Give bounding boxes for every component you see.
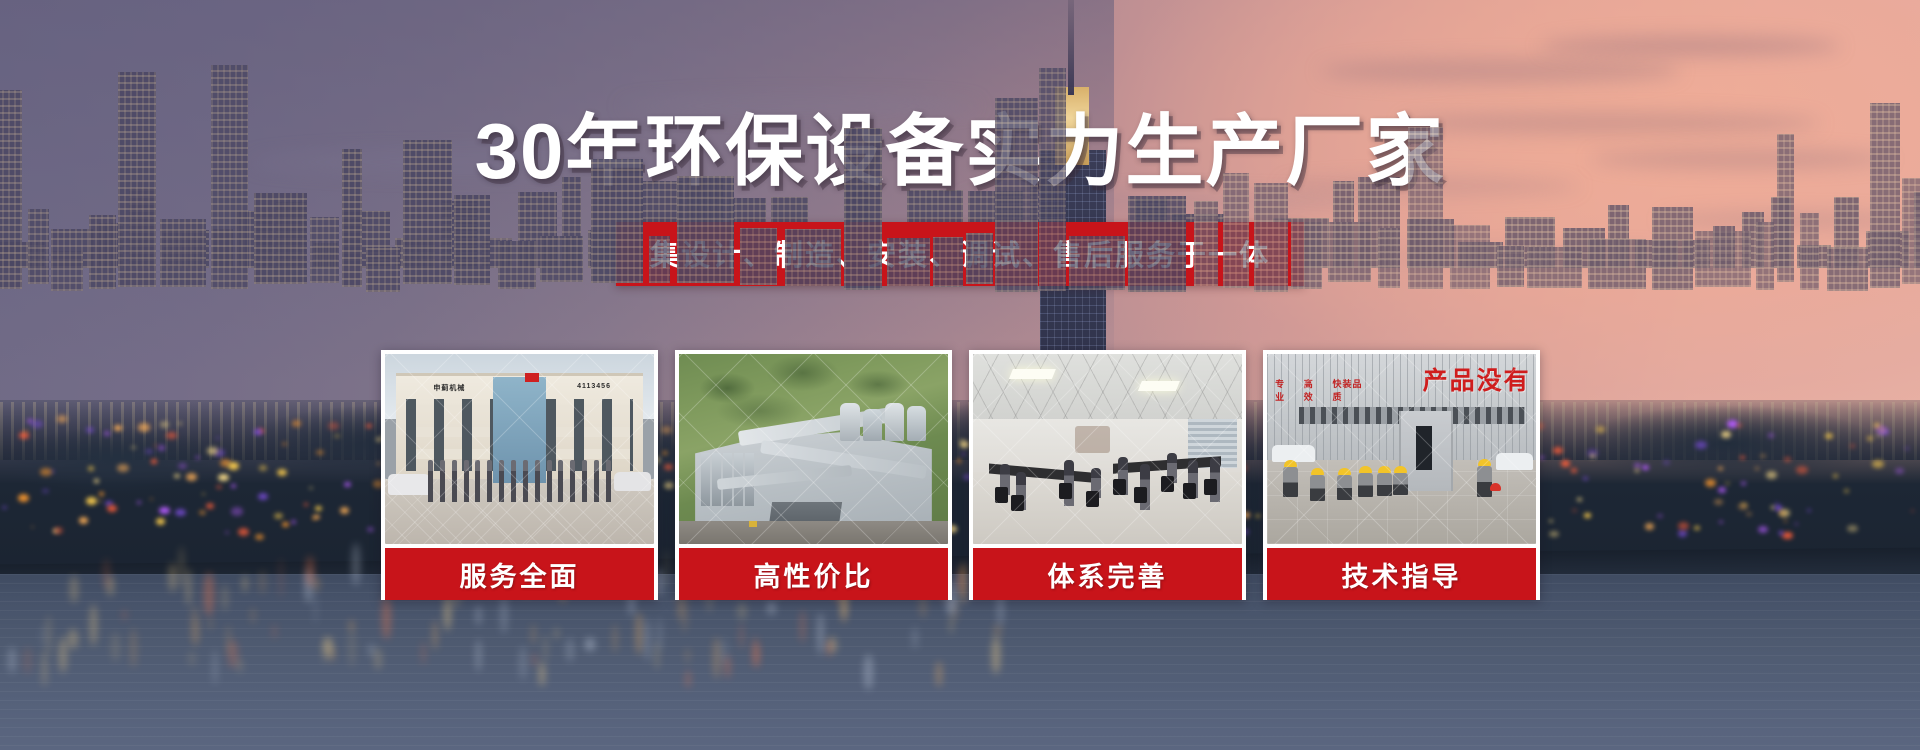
feature-card[interactable]: 产品没有 专业 高效 快装品质 技术指导 xyxy=(1263,350,1540,600)
feature-card[interactable]: 体系完善 xyxy=(969,350,1246,600)
red-helmet xyxy=(1490,483,1501,491)
page-title: 30年环保设备实力生产厂家 xyxy=(0,112,1920,190)
tower-spire xyxy=(1068,0,1074,95)
workshop-slogan-small: 专业 高效 快装品质 xyxy=(1275,377,1372,404)
card-photo-workers-workshop: 产品没有 专业 高效 快装品质 xyxy=(1267,354,1536,544)
office-chair xyxy=(1011,495,1024,511)
slogan-word: 专业 xyxy=(1275,377,1295,403)
staff-row xyxy=(428,460,611,502)
workshop-slogan-large: 产品没有 xyxy=(1407,362,1531,396)
building-phone-text: 4113456 xyxy=(577,383,611,390)
feature-card[interactable]: 申蓟机械 4113456 服务全面 xyxy=(381,350,658,600)
office-chair xyxy=(1161,476,1174,492)
worker-figure xyxy=(1393,466,1408,495)
worker-figure xyxy=(1310,468,1325,501)
office-chair xyxy=(1134,487,1147,503)
worker-figure xyxy=(1377,466,1392,496)
river-water xyxy=(0,574,1920,750)
feature-card-list: 申蓟机械 4113456 服务全面 xyxy=(381,350,1540,600)
card-photo-aerial-plant xyxy=(679,354,948,544)
worker-figure xyxy=(1283,460,1298,497)
office-chair xyxy=(1086,491,1099,507)
feature-card[interactable]: 高性价比 xyxy=(675,350,952,600)
card-label: 服务全面 xyxy=(385,548,654,600)
worker-figure xyxy=(1337,468,1352,500)
card-label: 体系完善 xyxy=(973,548,1242,600)
office-chair xyxy=(1204,479,1217,495)
card-photo-office-interior xyxy=(973,354,1242,544)
hero-banner: 30年环保设备实力生产厂家 集设计、制造、安装、调试、售后服务于一体 申蓟机械 … xyxy=(0,0,1920,750)
worker-figure xyxy=(1358,466,1373,497)
office-chair xyxy=(995,487,1008,503)
office-chair xyxy=(1113,479,1126,495)
office-chair xyxy=(1059,483,1072,499)
card-label: 高性价比 xyxy=(679,548,948,600)
building-logo-text: 申蓟机械 xyxy=(433,383,465,393)
card-photo-company-building: 申蓟机械 4113456 xyxy=(385,354,654,544)
card-label: 技术指导 xyxy=(1267,548,1536,600)
slogan-word: 快装品质 xyxy=(1332,377,1371,403)
office-chair xyxy=(1183,483,1196,499)
worker-figure xyxy=(1477,459,1492,497)
slogan-word: 高效 xyxy=(1304,377,1324,403)
